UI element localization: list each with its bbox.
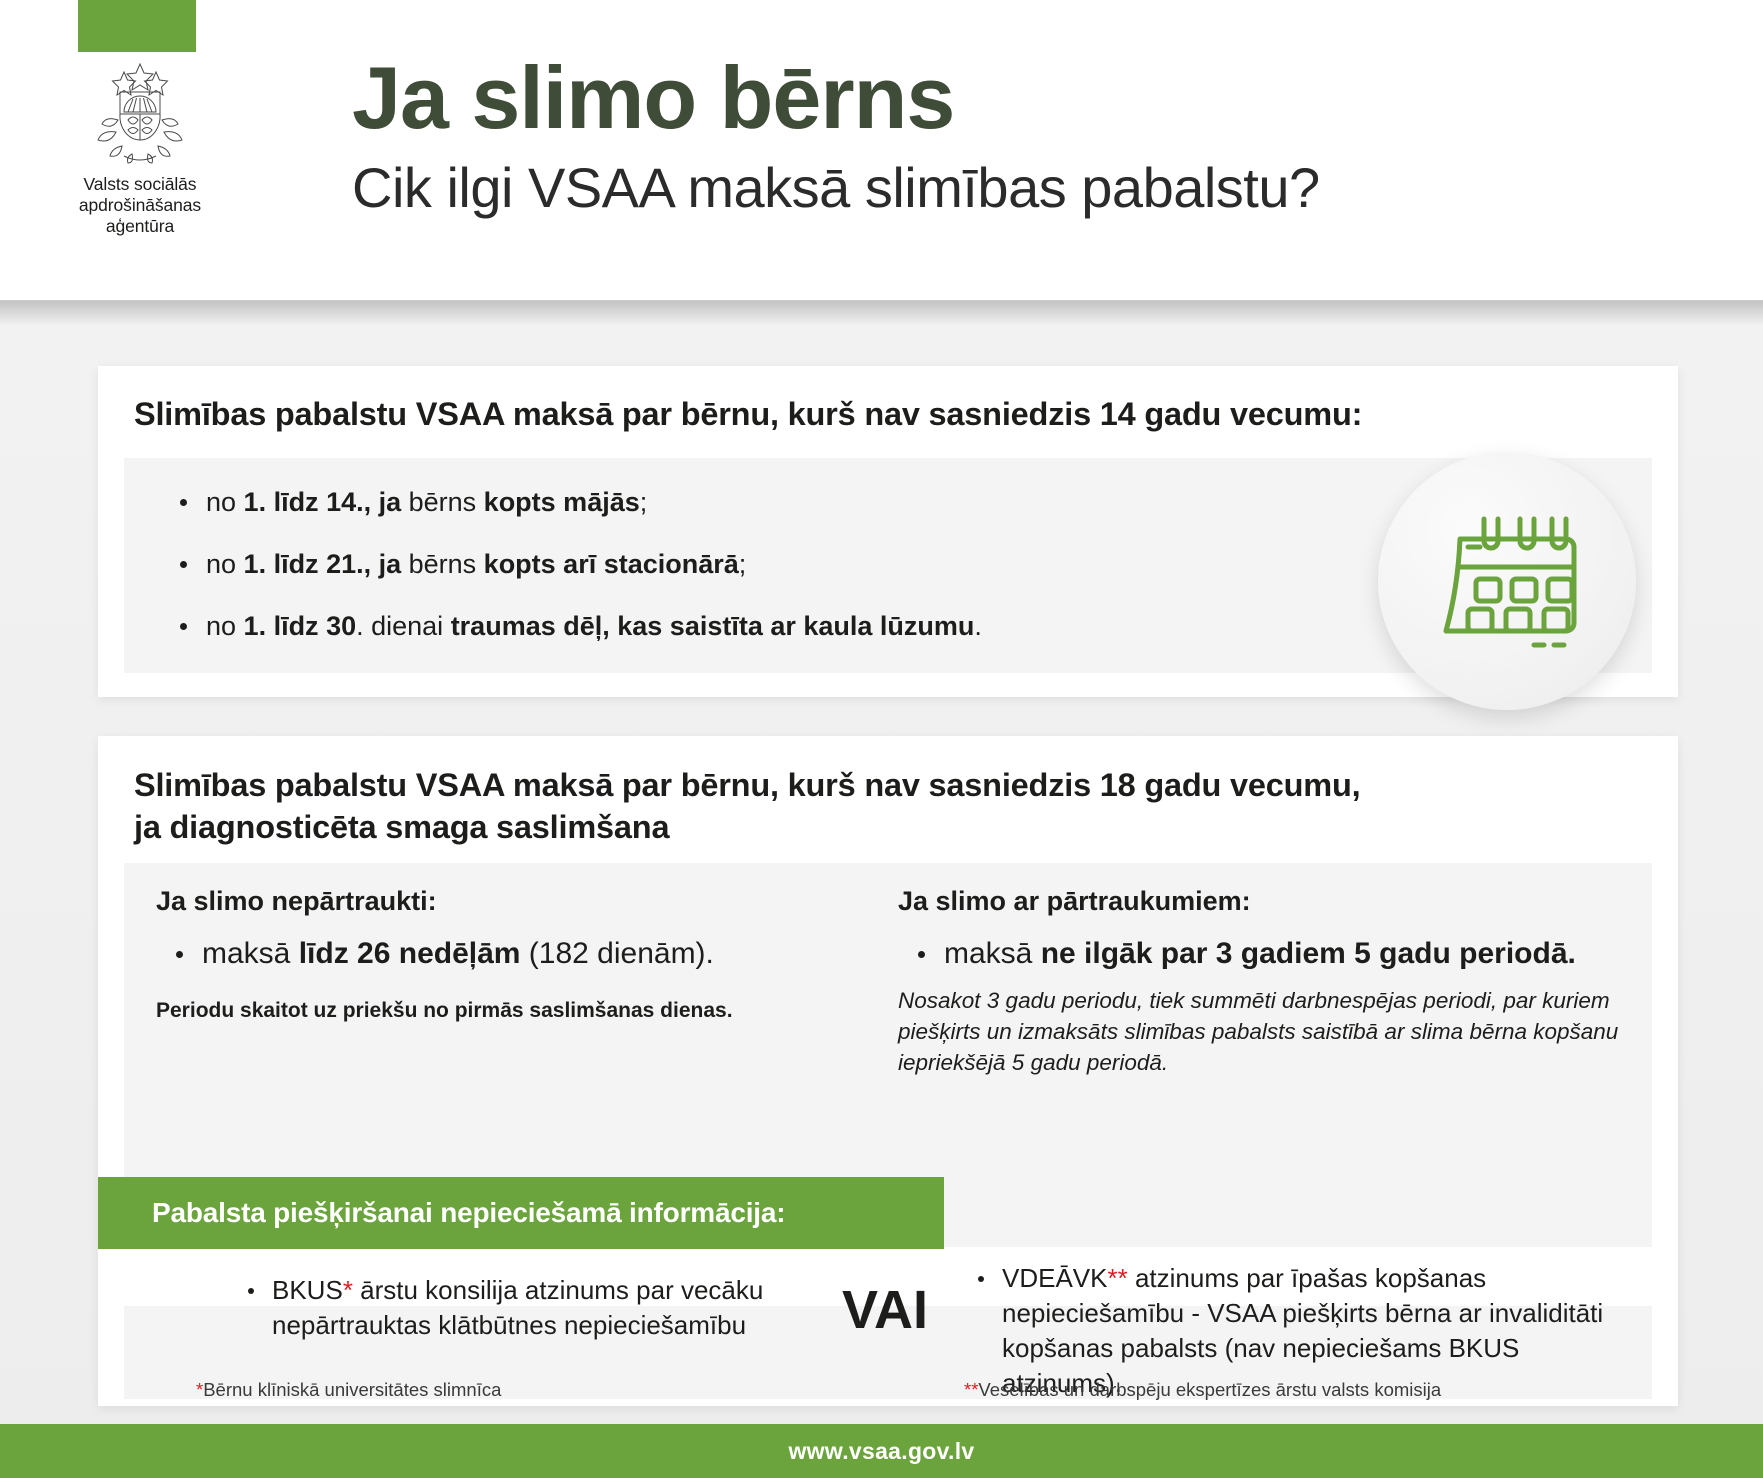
card2-title-line2: ja diagnosticēta smaga saslimšana [134,806,1634,848]
b2-mid: bērns [409,549,484,579]
right-bullet-bold: ne ilgāk par 3 gadiem 5 gadu periodā. [1041,937,1576,970]
calendar-icon-badge [1378,452,1636,710]
b3-post: . [974,611,982,641]
required-info-section: BKUS* ārstu konsilija atzinums par vecāk… [124,1249,1652,1389]
left-bullet-pre: maksā [202,937,299,970]
b2-pre: no [206,549,244,579]
footer: www.vsaa.gov.lv [0,1424,1763,1478]
b1-mid: bērns [409,487,484,517]
column-intermittent-illness: Ja slimo ar pārtraukumiem: maksā ne ilgā… [898,886,1628,1078]
left-bullet-bold: līdz 26 nedēļām [299,937,521,970]
right-column-list: maksā ne ilgāk par 3 gadiem 5 gadu perio… [898,933,1628,975]
b2-bold1: 1. līdz 21., ja [244,549,409,579]
green-accent-tab [78,0,196,52]
b1-bold2: kopts mājās [484,487,640,517]
logo-line-1: Valsts sociālās [55,174,225,195]
calendar-icon [1422,499,1592,664]
b3-bold2: traumas dēļ, kas saistīta ar kaula lūzum… [451,611,975,641]
b2-post: ; [739,549,747,579]
logo-line-3: aģentūra [55,216,225,237]
b2-bold2: kopts arī stacionārā [484,549,739,579]
card-under-18: Slimības pabalstu VSAA maksā par bērnu, … [98,736,1678,1406]
b1-post: ; [640,487,648,517]
required-info-banner-label: Pabalsta piešķiršanai nepieciešamā infor… [98,1197,785,1229]
footnote-bkus: *Bērnu klīniskā universitātes slimnīca [196,1378,501,1402]
asterisk-double: ** [1108,1263,1128,1293]
logo-line-2: apdrošināšanas [55,195,225,216]
footnote-vdeavk-text: Veselības un darbspēju ekspertīzes ārstu… [978,1379,1441,1400]
vdeavk-label: VDEĀVK [1002,1263,1108,1293]
card1-title: Slimības pabalstu VSAA maksā par bērnu, … [134,393,1664,435]
latvia-coat-of-arms-icon [80,58,200,168]
page-subtitle: Cik ilgi VSAA maksā slimības pabalstu? [352,156,1682,220]
list-item: maksā līdz 26 nedēļām (182 dienām). [156,933,876,975]
footnote-asterisk-double: ** [964,1379,978,1400]
footer-url[interactable]: www.vsaa.gov.lv [788,1438,974,1465]
right-column-heading: Ja slimo ar pārtraukumiem: [898,886,1628,917]
infographic-page: Valsts sociālās apdrošināšanas aģentūra … [0,0,1763,1478]
left-column-note: Periodu skaitot uz priekšu no pirmās sas… [156,997,876,1025]
left-column-list: maksā līdz 26 nedēļām (182 dienām). [156,933,876,975]
header: Valsts sociālās apdrošināšanas aģentūra … [0,0,1763,300]
b3-mid: . dienai [356,611,451,641]
title-block: Ja slimo bērns Cik ilgi VSAA maksā slimī… [352,52,1682,220]
bkus-label: BKUS [272,1275,343,1305]
or-separator: VAI [842,1279,928,1341]
required-info-left: BKUS* ārstu konsilija atzinums par vecāk… [234,1273,824,1343]
list-item: BKUS* ārstu konsilija atzinums par vecāk… [234,1273,824,1343]
page-title: Ja slimo bērns [352,52,1682,144]
footnote-vdeavk: **Veselības un darbspēju ekspertīzes ārs… [964,1378,1441,1402]
left-bullet-post: (182 dienām). [520,937,713,970]
b1-pre: no [206,487,244,517]
card2-title-line1: Slimības pabalstu VSAA maksā par bērnu, … [134,764,1634,806]
b3-bold1: 1. līdz 30 [244,611,357,641]
card2-title: Slimības pabalstu VSAA maksā par bērnu, … [134,764,1634,848]
column-continuous-illness: Ja slimo nepārtraukti: maksā līdz 26 ned… [156,886,876,1025]
required-info-banner: Pabalsta piešķiršanai nepieciešamā infor… [98,1177,944,1249]
header-shadow [0,300,1763,326]
left-column-heading: Ja slimo nepārtraukti: [156,886,876,917]
list-item: no 1. līdz 30. dienai traumas dēļ, kas s… [160,609,1340,643]
footnote-bkus-text: Bērnu klīniskā universitātes slimnīca [203,1379,501,1400]
logo-text: Valsts sociālās apdrošināšanas aģentūra [55,174,225,237]
right-column-note: Nosakot 3 gadu periodu, tiek summēti dar… [898,985,1628,1078]
list-item: maksā ne ilgāk par 3 gadiem 5 gadu perio… [898,933,1628,975]
asterisk-single: * [343,1275,353,1305]
right-bullet-pre: maksā [944,937,1041,970]
bkus-list: BKUS* ārstu konsilija atzinums par vecāk… [234,1273,824,1343]
card1-bullet-list: no 1. līdz 14., ja bērns kopts mājās; no… [160,485,1340,671]
organization-logo: Valsts sociālās apdrošināšanas aģentūra [55,58,225,237]
list-item: no 1. līdz 14., ja bērns kopts mājās; [160,485,1340,519]
b1-bold1: 1. līdz 14., ja [244,487,409,517]
b3-pre: no [206,611,244,641]
list-item: no 1. līdz 21., ja bērns kopts arī staci… [160,547,1340,581]
